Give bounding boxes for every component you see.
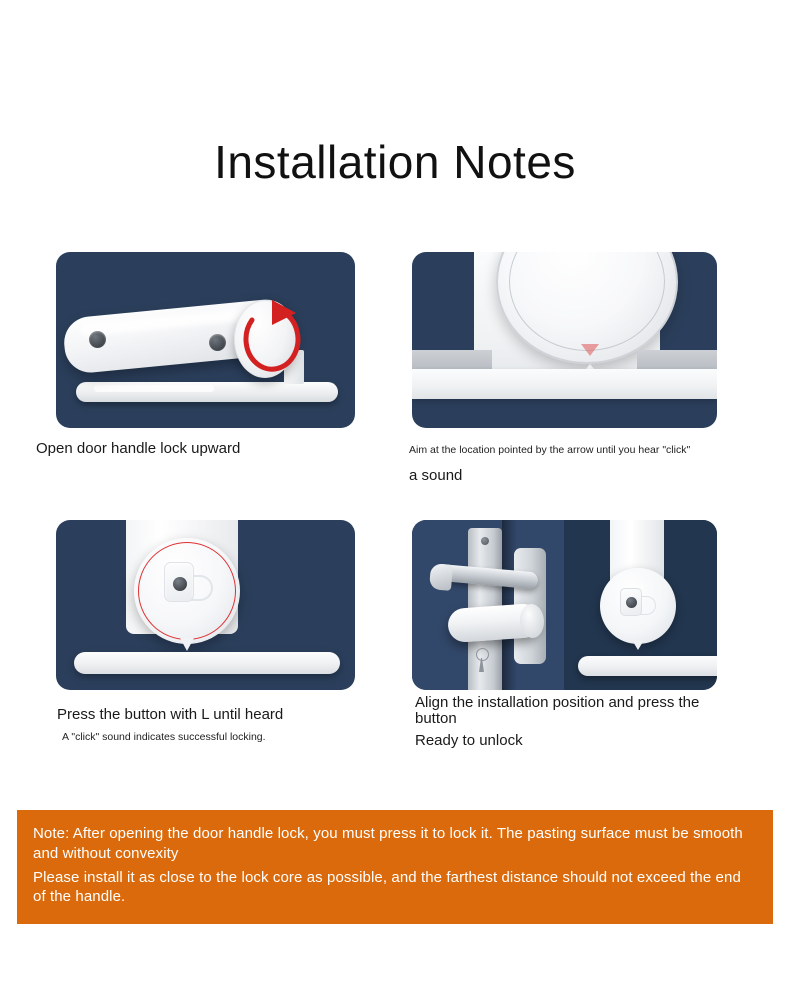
rotate-clockwise-arrow-icon	[228, 294, 304, 384]
lock-screw-right	[209, 334, 226, 351]
step-2-image-panel	[412, 252, 717, 428]
note-paragraph-2: Please install it as close to the lock c…	[33, 868, 757, 908]
mounting-rail-right	[637, 350, 717, 369]
lock-base-plate	[578, 656, 717, 676]
step-3-caption-primary: Press the button with L until heard	[57, 706, 283, 723]
installation-notes-page: Installation Notes Open door handle lock…	[0, 0, 790, 992]
lock-face-button-illustration	[56, 520, 355, 690]
step-4-caption-secondary: Ready to unlock	[415, 732, 523, 749]
lock-base-plate	[74, 652, 340, 674]
step-4-image-panel	[412, 520, 717, 690]
note-banner: Note: After opening the door handle lock…	[17, 810, 773, 924]
step-3-caption-secondary: A "click" sound indicates successful loc…	[62, 731, 266, 743]
note-paragraph-1: Note: After opening the door handle lock…	[33, 824, 757, 864]
door-handle-tip	[429, 563, 453, 591]
lock-disc-closeup-illustration	[412, 252, 717, 428]
step-1-image-panel	[56, 252, 355, 428]
door-handle-installed-photo	[412, 520, 564, 690]
step-3-image-panel	[56, 520, 355, 690]
step-1-caption: Open door handle lock upward	[36, 440, 240, 457]
step-2-caption-secondary: a sound	[409, 467, 462, 484]
keyhole-icon	[476, 648, 487, 674]
button-center-dot	[173, 577, 187, 591]
triangle-down-marker-icon	[581, 344, 599, 356]
alignment-tip	[180, 638, 194, 651]
lock-side-view-illustration	[56, 252, 355, 428]
button-center-dot	[626, 597, 637, 608]
step-4-caption-primary: Align the installation position and pres…	[415, 695, 745, 727]
lock-base-bar	[412, 369, 717, 399]
page-title: Installation Notes	[0, 137, 790, 188]
mounting-rail-left	[412, 350, 492, 369]
lock-base-plate	[76, 382, 338, 402]
lock-screw-left	[89, 331, 106, 348]
alignment-tip	[632, 640, 644, 650]
lock-button-closeup-photo	[564, 520, 717, 690]
step-2-caption-primary: Aim at the location pointed by the arrow…	[409, 444, 690, 456]
